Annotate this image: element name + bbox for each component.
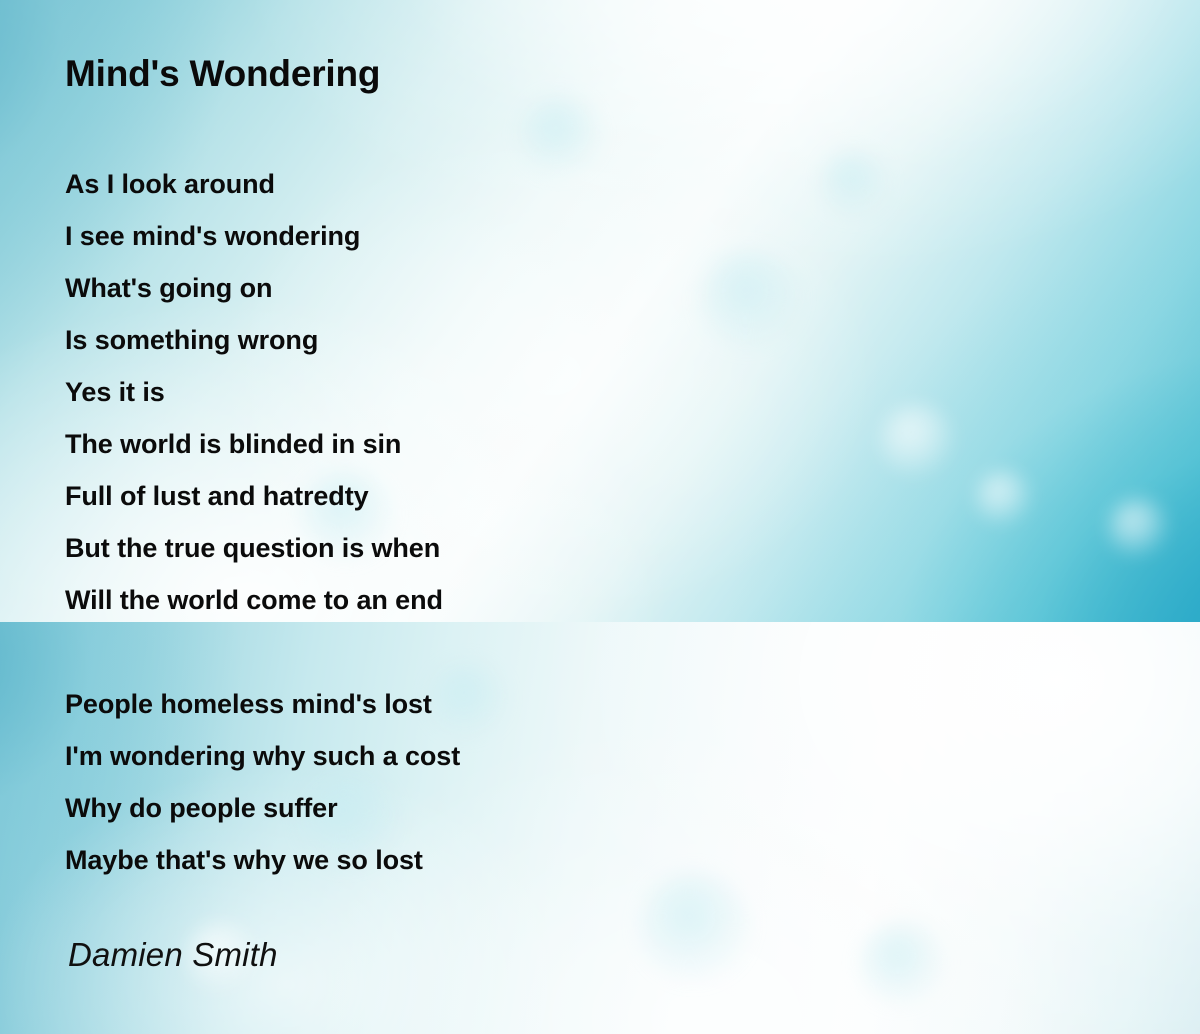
poem-line: What's going on [65,262,443,314]
poem-line: I'm wondering why such a cost [65,730,460,782]
poem-content: Mind's Wondering As I look around I see … [0,0,1200,1034]
poem-line: As I look around [65,158,443,210]
poem-line: I see mind's wondering [65,210,443,262]
poem-line: Why do people suffer [65,782,460,834]
poem-line: The world is blinded in sin [65,418,443,470]
poem-title: Mind's Wondering [65,53,380,95]
poem-line: Maybe that's why we so lost [65,834,460,886]
poem-author-signature: Damien Smith [68,936,278,974]
poem-line: Yes it is [65,366,443,418]
poem-line: Is something wrong [65,314,443,366]
poem-stanza-2: People homeless mind's lost I'm wonderin… [65,678,460,886]
poem-line: Will the world come to an end [65,574,443,626]
poem-image: Mind's Wondering As I look around I see … [0,0,1200,1034]
poem-line: But the true question is when [65,522,443,574]
poem-stanza-1: As I look around I see mind's wondering … [65,158,443,626]
poem-line: Full of lust and hatredty [65,470,443,522]
poem-line: People homeless mind's lost [65,678,460,730]
